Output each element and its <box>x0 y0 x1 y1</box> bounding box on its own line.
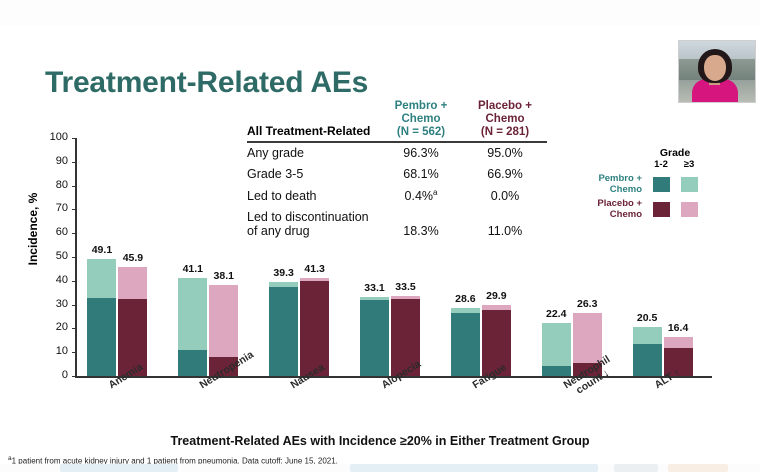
y-axis-tick-label: 80 <box>32 179 68 191</box>
y-axis-tick-label: 0 <box>32 369 68 381</box>
bar-value-label: 29.9 <box>469 290 523 302</box>
bar-value-label: 38.1 <box>197 270 251 282</box>
bar-placebo[interactable] <box>118 267 147 376</box>
bar-value-label: 41.3 <box>288 263 342 275</box>
ghost-chip-3 <box>614 464 658 472</box>
bar-segment-grade-3plus <box>664 337 693 348</box>
ghost-chip-2 <box>350 464 598 472</box>
bar-group: 28.629.9 <box>439 138 530 376</box>
y-axis-tick-label: 30 <box>32 298 68 310</box>
y-axis-tick-label: 20 <box>32 321 68 333</box>
bar-pembro[interactable] <box>87 259 116 376</box>
bar-group: 49.145.9 <box>76 138 167 376</box>
bar-segment-grade-3plus <box>573 313 602 362</box>
bar-segment-grade-1-2 <box>300 281 329 376</box>
bar-value-label: 33.5 <box>378 281 432 293</box>
y-axis-tick-label: 50 <box>32 250 68 262</box>
bar-segment-grade-1-2 <box>542 366 571 376</box>
bar-pembro[interactable] <box>269 282 298 376</box>
bar-placebo[interactable] <box>300 278 329 376</box>
bar-segment-grade-1-2 <box>360 300 389 376</box>
bar-group: 41.138.1 <box>167 138 258 376</box>
table-header-pembro-line2: Chemo <box>379 113 463 126</box>
bar-group: 20.516.4 <box>621 138 712 376</box>
bar-segment-grade-1-2 <box>633 344 662 376</box>
y-axis-tick-label: 90 <box>32 155 68 167</box>
bar-value-label: 45.9 <box>106 252 160 264</box>
bar-segment-grade-3plus <box>118 267 147 299</box>
bar-segment-grade-1-2 <box>451 313 480 376</box>
bar-segment-grade-1-2 <box>87 298 116 376</box>
presenter-video-thumbnail[interactable] <box>678 40 756 103</box>
bar-segment-grade-3plus <box>209 285 238 357</box>
webcam-presenter-face <box>704 55 726 81</box>
bar-pembro[interactable] <box>360 297 389 376</box>
bar-segment-grade-1-2 <box>269 287 298 376</box>
slide-top-margin <box>0 0 760 26</box>
table-header-pembro-line1: Pembro + <box>379 100 463 113</box>
bar-group: 33.133.5 <box>349 138 440 376</box>
slide-root: Treatment-Related AEs All Treatment-Rela… <box>0 0 760 472</box>
bar-value-label: 16.4 <box>651 322 705 334</box>
bar-segment-grade-3plus <box>87 259 116 298</box>
y-axis-tick-label: 100 <box>32 131 68 143</box>
y-axis-tick-label: 10 <box>32 345 68 357</box>
y-axis-tick-label: 40 <box>32 274 68 286</box>
bar-chart: Incidence, % 0102030405060708090100 49.1… <box>14 130 714 385</box>
bar-value-label: 26.3 <box>560 298 614 310</box>
y-axis-tick-label: 60 <box>32 226 68 238</box>
bar-pembro[interactable] <box>633 327 662 376</box>
y-axis-tick-label: 70 <box>32 202 68 214</box>
bar-group: 39.341.3 <box>258 138 349 376</box>
ghost-chip-4 <box>668 464 728 472</box>
ghost-chip-1 <box>60 464 178 472</box>
table-header-placebo-line2: Chemo <box>463 113 547 126</box>
chart-caption: Treatment-Related AEs with Incidence ≥20… <box>0 434 760 448</box>
page-title: Treatment-Related AEs <box>45 66 368 100</box>
bar-pembro[interactable] <box>178 278 207 376</box>
table-header-placebo-line1: Placebo + <box>463 100 547 113</box>
bar-group: 22.426.3 <box>530 138 621 376</box>
plot-area: 49.145.941.138.139.341.333.133.528.629.9… <box>76 138 712 376</box>
bar-segment-grade-3plus <box>542 323 571 366</box>
bar-segment-grade-1-2 <box>178 350 207 376</box>
bar-pembro[interactable] <box>542 323 571 376</box>
bar-segment-grade-3plus <box>178 278 207 350</box>
bar-pembro[interactable] <box>451 308 480 376</box>
